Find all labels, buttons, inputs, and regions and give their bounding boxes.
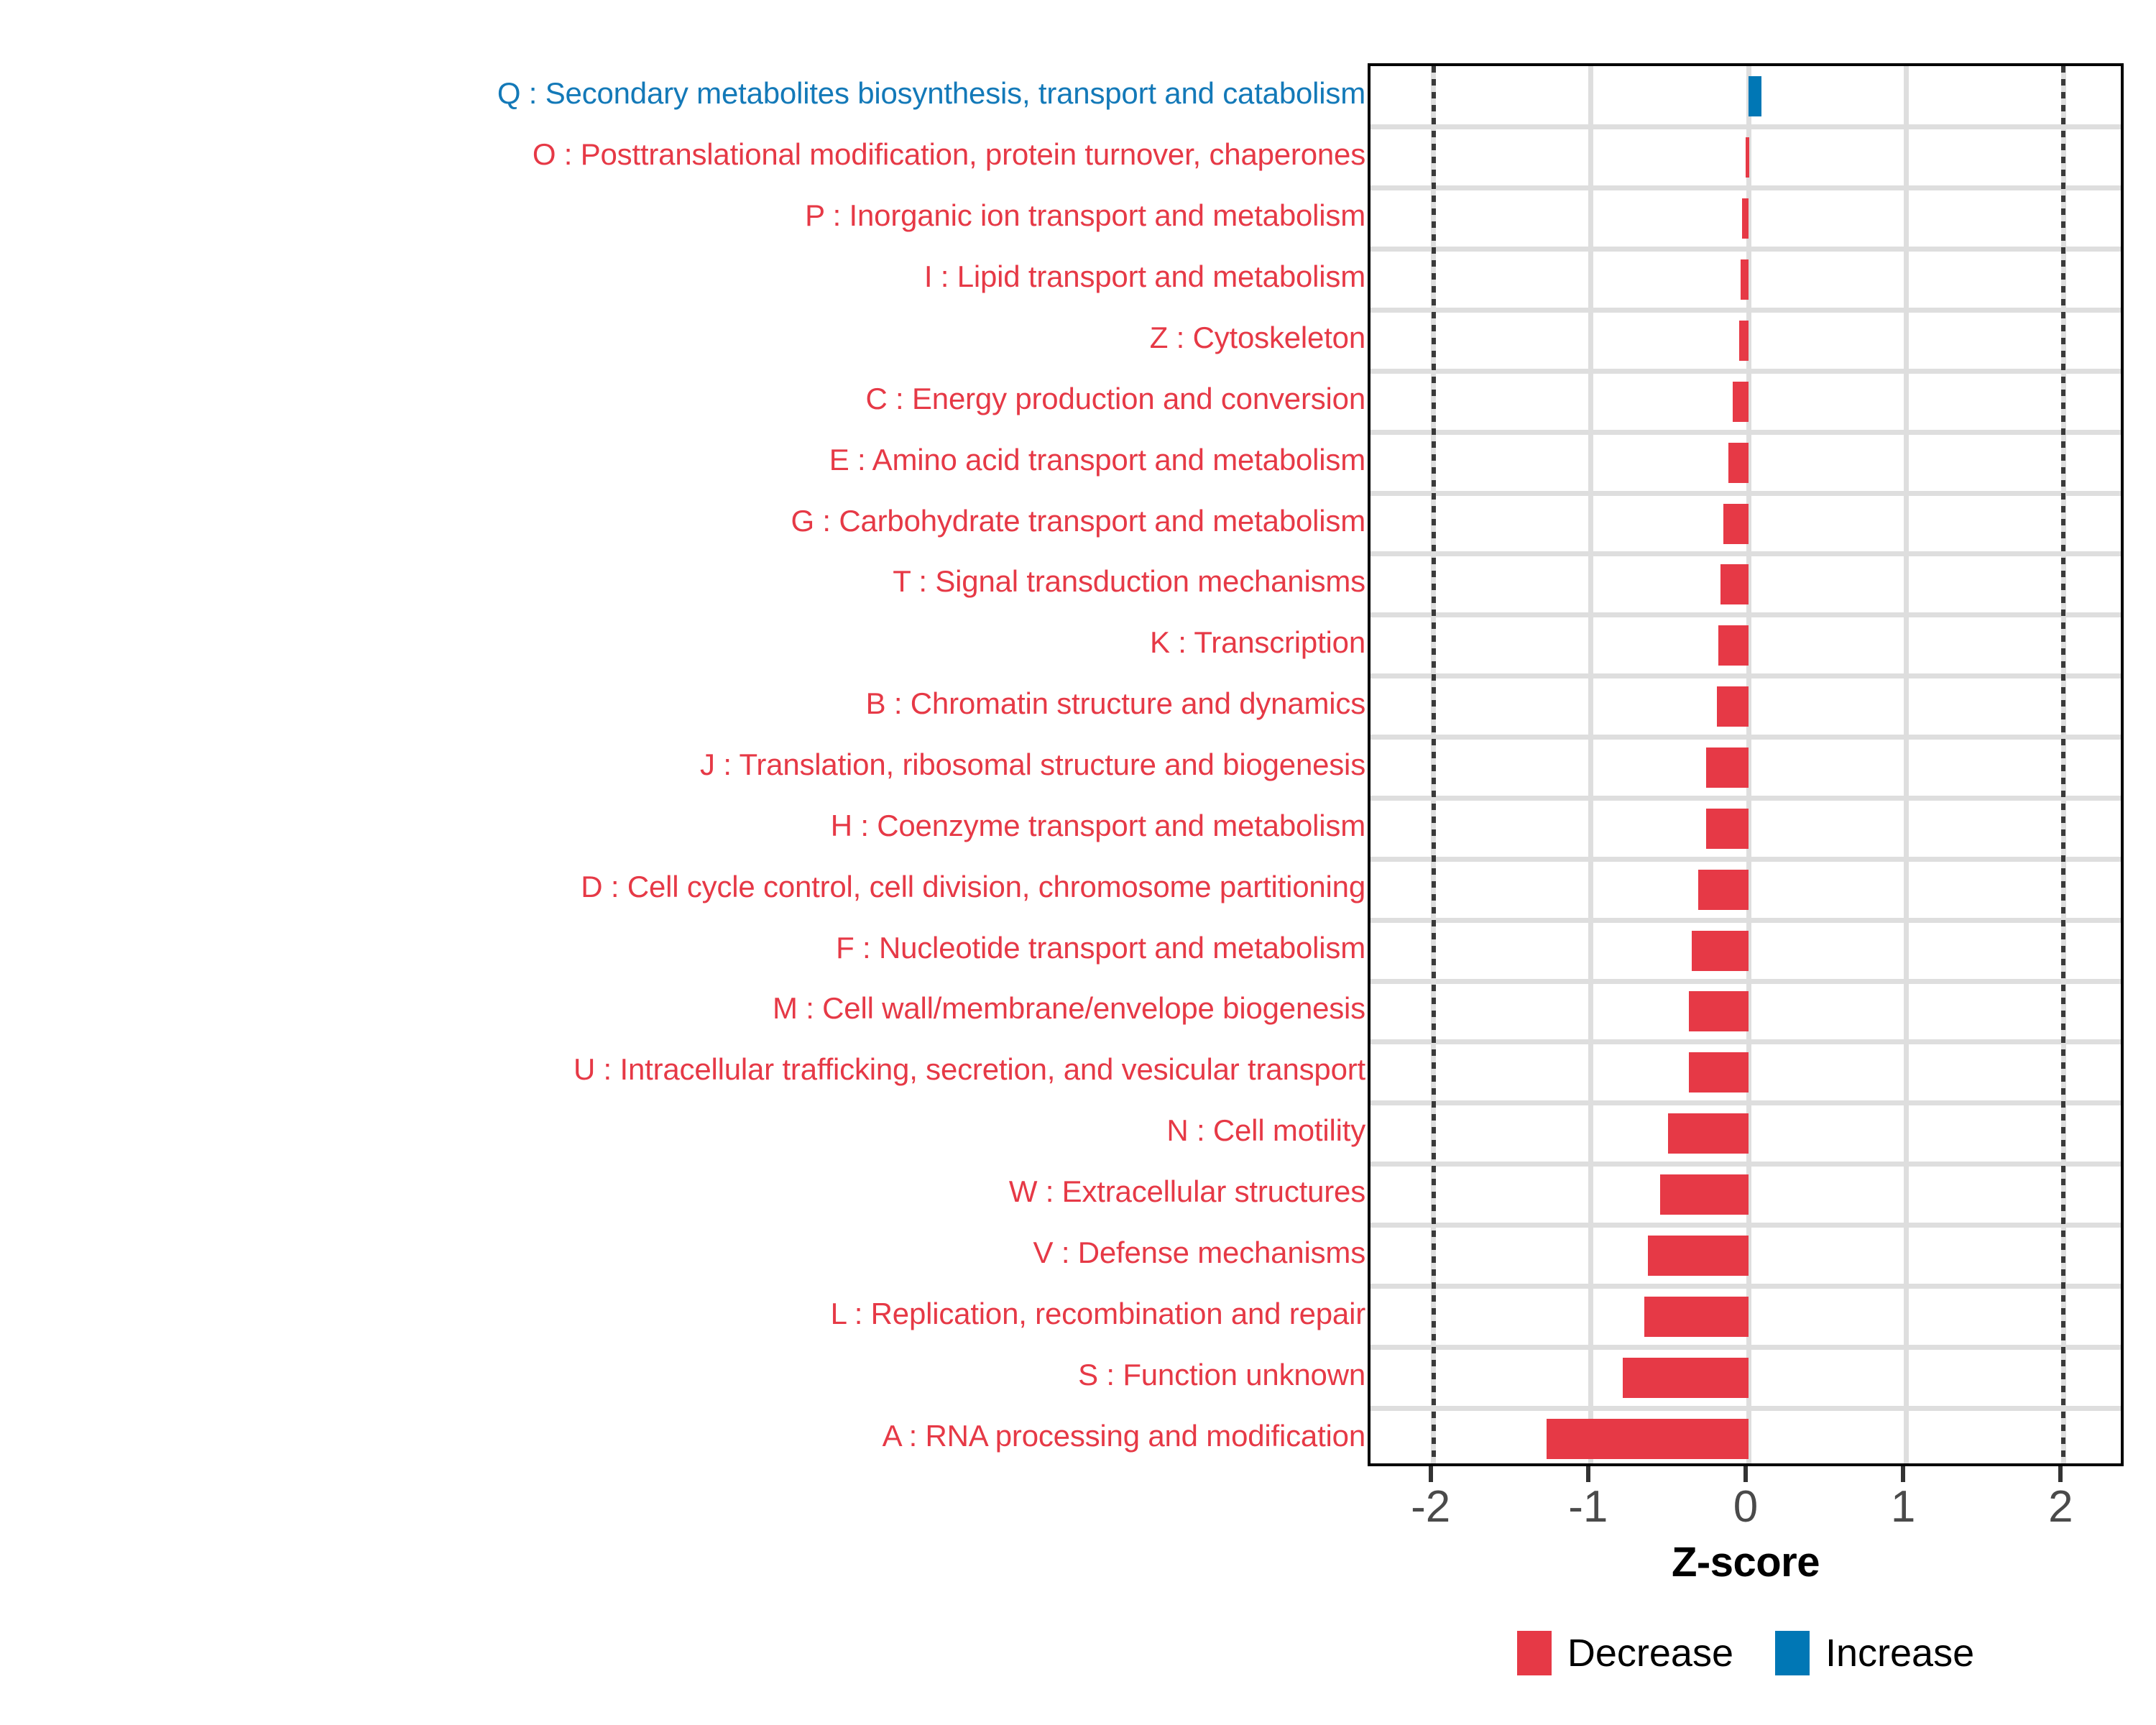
category-label: E : Amino acid transport and metabolism — [0, 445, 1365, 475]
bar — [1749, 76, 1761, 116]
legend-item[interactable]: Increase — [1775, 1631, 1974, 1675]
bar — [1742, 198, 1749, 239]
bar — [1547, 1419, 1749, 1459]
category-label: N : Cell motility — [0, 1115, 1365, 1146]
legend-item[interactable]: Decrease — [1517, 1631, 1733, 1675]
bar — [1698, 870, 1749, 910]
category-axis-labels: Q : Secondary metabolites biosynthesis, … — [0, 63, 1365, 1466]
category-label: V : Defense mechanisms — [0, 1238, 1365, 1268]
bar — [1706, 747, 1749, 788]
category-label: Q : Secondary metabolites biosynthesis, … — [0, 78, 1365, 109]
category-label: T : Signal transduction mechanisms — [0, 566, 1365, 597]
bar — [1739, 321, 1749, 361]
legend-swatch-icon — [1775, 1631, 1810, 1675]
bar — [1728, 443, 1749, 483]
category-label: W : Extracellular structures — [0, 1177, 1365, 1207]
legend-label: Increase — [1825, 1633, 1974, 1673]
gridline-vertical — [1588, 66, 1593, 1463]
x-tickmark — [1586, 1466, 1590, 1482]
x-ticklabel: -1 — [1538, 1482, 1639, 1532]
reference-line — [2061, 66, 2065, 1463]
bar — [1660, 1174, 1749, 1215]
legend: DecreaseIncrease — [1368, 1621, 2124, 1685]
x-tickmark — [2058, 1466, 2063, 1482]
legend-label: Decrease — [1567, 1633, 1733, 1673]
bar — [1689, 991, 1749, 1031]
x-ticklabel: -2 — [1381, 1482, 1481, 1532]
category-label: F : Nucleotide transport and metabolism — [0, 933, 1365, 963]
reference-line — [1432, 66, 1436, 1463]
category-label: C : Energy production and conversion — [0, 384, 1365, 414]
category-label: P : Inorganic ion transport and metaboli… — [0, 201, 1365, 231]
legend-swatch-icon — [1517, 1631, 1552, 1675]
category-label: G : Carbohydrate transport and metabolis… — [0, 506, 1365, 536]
category-label: J : Translation, ribosomal structure and… — [0, 750, 1365, 780]
bar — [1644, 1297, 1749, 1337]
bar — [1733, 382, 1749, 422]
category-label: U : Intracellular trafficking, secretion… — [0, 1054, 1365, 1085]
category-label: B : Chromatin structure and dynamics — [0, 689, 1365, 719]
bar — [1720, 564, 1749, 604]
gridline-vertical — [1904, 66, 1909, 1463]
bar — [1741, 259, 1749, 300]
x-axis-ticklabels: -2-1012 — [1368, 1482, 2124, 1540]
category-label: O : Posttranslational modification, prot… — [0, 139, 1365, 170]
bar — [1717, 686, 1749, 727]
bar — [1668, 1113, 1749, 1154]
bar — [1623, 1358, 1749, 1398]
category-label: L : Replication, recombination and repai… — [0, 1299, 1365, 1329]
category-label: D : Cell cycle control, cell division, c… — [0, 872, 1365, 902]
category-label: M : Cell wall/membrane/envelope biogenes… — [0, 993, 1365, 1023]
category-label: H : Coenzyme transport and metabolism — [0, 811, 1365, 841]
bar — [1689, 1052, 1749, 1092]
x-axis-tickmarks — [1368, 1466, 2124, 1482]
plot-panel — [1368, 63, 2124, 1466]
chart-root: Q : Secondary metabolites biosynthesis, … — [0, 0, 2156, 1725]
bar — [1723, 504, 1749, 544]
x-ticklabel: 0 — [1695, 1482, 1796, 1532]
bar — [1718, 625, 1749, 666]
category-label: K : Transcription — [0, 627, 1365, 658]
x-ticklabel: 2 — [2010, 1482, 2111, 1532]
x-tickmark — [1901, 1466, 1905, 1482]
bar — [1648, 1236, 1749, 1276]
category-label: Z : Cytoskeleton — [0, 323, 1365, 353]
category-label: I : Lipid transport and metabolism — [0, 262, 1365, 292]
bar — [1706, 809, 1749, 849]
x-ticklabel: 1 — [1853, 1482, 1953, 1532]
category-label: A : RNA processing and modification — [0, 1421, 1365, 1451]
x-tickmark — [1743, 1466, 1748, 1482]
bar — [1692, 931, 1749, 971]
bar — [1746, 137, 1749, 178]
x-axis-title: Z-score — [1368, 1538, 2124, 1586]
x-tickmark — [1429, 1466, 1433, 1482]
category-label: S : Function unknown — [0, 1360, 1365, 1390]
